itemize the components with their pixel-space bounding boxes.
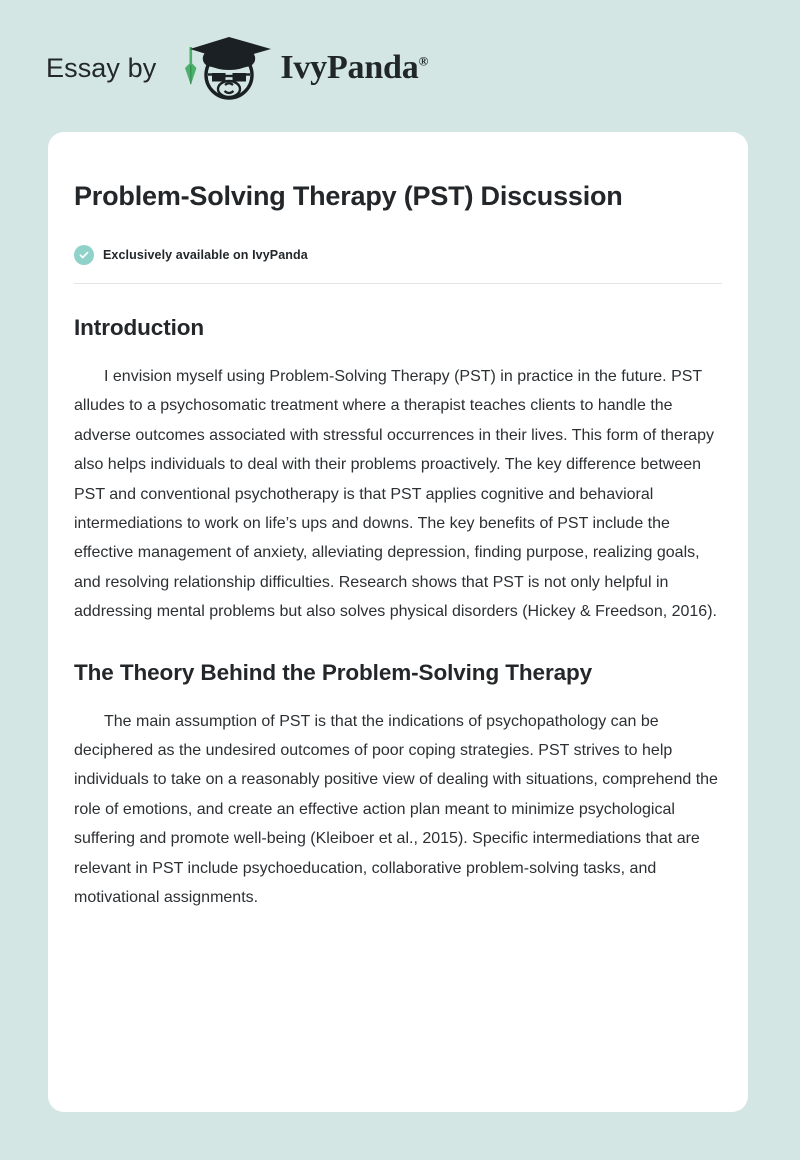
panda-graduate-icon xyxy=(174,35,282,101)
check-circle-icon xyxy=(74,245,94,265)
section-heading-introduction: Introduction xyxy=(74,308,722,348)
page-title: Problem-Solving Therapy (PST) Discussion xyxy=(74,176,722,217)
section-paragraph-introduction: I envision myself using Problem-Solving … xyxy=(74,362,722,627)
section-paragraph-theory: The main assumption of PST is that the i… xyxy=(74,707,722,913)
exclusive-availability-badge: Exclusively available on IvyPanda xyxy=(74,245,722,265)
essay-card: Problem-Solving Therapy (PST) Discussion… xyxy=(48,132,748,1112)
exclusive-badge-label: Exclusively available on IvyPanda xyxy=(103,248,308,262)
header-divider xyxy=(74,283,722,284)
brand-wordmark: IvyPanda® xyxy=(280,51,428,85)
essay-by-label: Essay by xyxy=(46,55,156,82)
section-heading-theory: The Theory Behind the Problem-Solving Th… xyxy=(74,653,722,693)
brand-header: Essay by xyxy=(46,36,428,100)
brand-name: IvyPanda xyxy=(280,49,418,86)
registered-trademark-symbol: ® xyxy=(419,54,429,69)
ivypanda-logo: IvyPanda® xyxy=(174,35,428,101)
